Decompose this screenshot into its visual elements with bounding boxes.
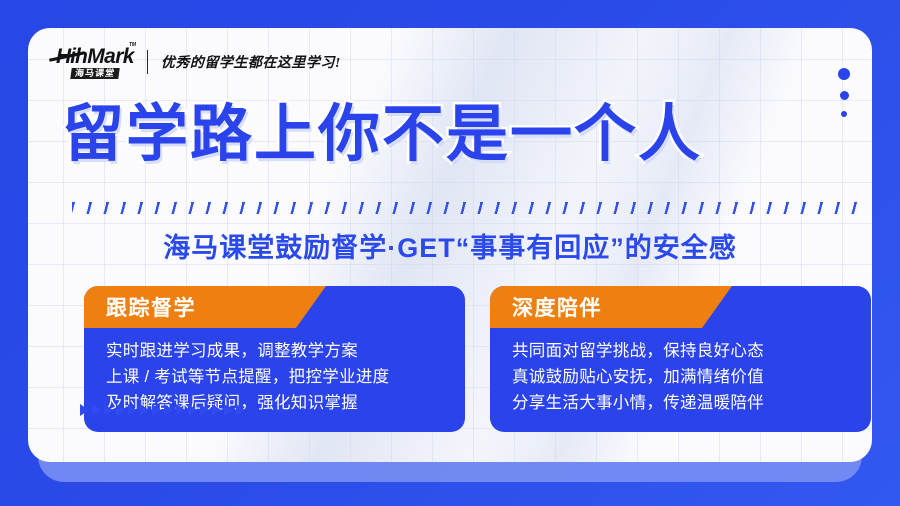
circle-dot-icon: [841, 111, 847, 117]
card-line: 真诚鼓励贴心安抚，加满情绪价值: [512, 364, 851, 390]
card-tab-label: 深度陪伴: [512, 292, 602, 322]
triangle-right-icon: [224, 404, 233, 416]
promo-banner: HihMark TM 海马课堂 优秀的留学生都在这里学习! 留学路上你不是一个人…: [0, 0, 900, 506]
triangle-right-icon: [92, 404, 101, 416]
dashed-slash-divider-icon: [72, 200, 862, 214]
feature-card-companionship: 深度陪伴 共同面对留学挑战，保持良好心态 真诚鼓励贴心安抚，加满情绪价值 分享生…: [490, 286, 871, 432]
card-body-companionship: 共同面对留学挑战，保持良好心态 真诚鼓励贴心安抚，加满情绪价值 分享生活大事小情…: [490, 332, 871, 416]
page-subtitle: 海马课堂鼓励督学·GET“事事有回应”的安全感: [28, 226, 872, 265]
trademark-mark: TM: [129, 43, 136, 48]
header-divider: [147, 50, 148, 74]
content-panel: HihMark TM 海马课堂 优秀的留学生都在这里学习! 留学路上你不是一个人…: [28, 28, 872, 462]
card-line: 共同面对留学挑战，保持良好心态: [512, 338, 851, 364]
card-tab-companionship: 深度陪伴: [490, 286, 732, 328]
highmark-logo: HihMark TM 海马课堂: [56, 46, 134, 79]
logo-wordmark: HihMark TM: [56, 46, 134, 67]
triangle-right-icon: [80, 404, 89, 416]
card-tab-tracking: 跟踪督学: [84, 286, 326, 328]
triangle-right-icon: [116, 404, 125, 416]
brand-header: HihMark TM 海马课堂 优秀的留学生都在这里学习!: [56, 42, 341, 82]
triangle-right-icon: [128, 404, 137, 416]
brand-tagline: 优秀的留学生都在这里学习!: [161, 52, 341, 72]
triangle-right-icon: [164, 404, 173, 416]
page-title: 留学路上你不是一个人: [62, 104, 702, 166]
triangle-right-icon: [152, 404, 161, 416]
triangle-right-icon: [176, 404, 185, 416]
logo-chinese-name: 海马课堂: [70, 68, 120, 79]
card-tab-label: 跟踪督学: [106, 292, 196, 322]
card-line: 分享生活大事小情，传递温暖陪伴: [512, 390, 851, 416]
logo-word-rest: hMark: [75, 45, 134, 68]
triangle-right-icon: [212, 404, 221, 416]
triangle-right-icon: [200, 404, 209, 416]
triangle-right-icon: [140, 404, 149, 416]
circle-dot-icon: [840, 91, 849, 100]
dot-decoration-column: [838, 68, 850, 117]
circle-dot-icon: [838, 68, 850, 80]
triangle-right-icon: [104, 404, 113, 416]
triangle-right-icon: [236, 404, 245, 416]
arrow-decoration-row: [80, 404, 245, 416]
triangle-right-icon: [188, 404, 197, 416]
card-line: 上课 / 考试等节点提醒，把控学业进度: [106, 364, 445, 390]
card-line: 实时跟进学习成果，调整教学方案: [106, 338, 445, 364]
